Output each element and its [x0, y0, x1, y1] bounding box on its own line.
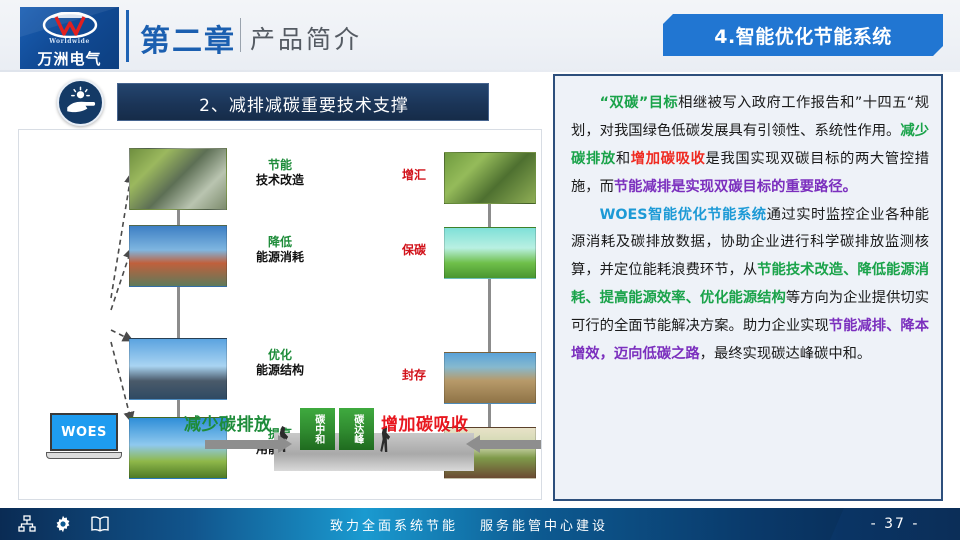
footer-icon-group [18, 508, 110, 540]
diagram-panel: 节能 技术改造 降低 能源消耗 优化 能源结构 提高 用能效率 增汇 保碳 封存… [18, 129, 542, 500]
diagram-right-connector-line [488, 279, 491, 352]
chapter-separator [240, 18, 241, 52]
diagram-label-right-1: 增汇 [389, 168, 439, 183]
description-text: “双碳”目标相继被写入政府工作报告和”十四五“规划，对我国绿色低碳发展具有引领性… [571, 90, 929, 369]
diagram-image-industrial-pipes [129, 148, 227, 210]
woes-laptop-base [46, 452, 122, 459]
diagram-image-green-earth [444, 227, 536, 279]
section-title-bar: 2、减排减碳重要技术支撑 [117, 83, 489, 121]
diagram-right-connector-line [488, 204, 491, 227]
header-divider-rule [0, 70, 960, 72]
description-paragraph-1: “双碳”目标相继被写入政府工作报告和”十四五“规划，对我国绿色低碳发展具有引领性… [571, 90, 929, 202]
section-ribbon-label: 4.智能优化节能系统 [663, 14, 943, 56]
footer-slogan-left: 致力全面系统节能 [330, 508, 458, 540]
diagram-image-geological-storage [444, 352, 536, 404]
diagram-image-power-plant [129, 225, 227, 287]
hand-with-sun-icon [59, 81, 102, 124]
diagram-label-right-2: 保碳 [389, 243, 439, 258]
diagram-left-connector-line [177, 210, 180, 225]
reduce-emission-label: 减少碳排放 [184, 410, 272, 435]
diagram-label-left-3: 优化 能源结构 [237, 348, 323, 378]
diagram-label-right-3: 封存 [389, 368, 439, 383]
puzzle-piece-carbon-peak: 碳达峰 [339, 408, 374, 450]
logo-wordmark: Worldwide [20, 38, 119, 45]
woes-device[interactable]: WOES [46, 411, 122, 463]
section-title-label: 2、减排减碳重要技术支撑 [118, 84, 490, 122]
logo-emblem-icon [42, 12, 98, 38]
section-ribbon: 4.智能优化节能系统 [663, 14, 943, 56]
section-badge [57, 79, 104, 126]
diagram-left-connector-line [177, 287, 180, 338]
reduce-emission-arrow [205, 440, 279, 449]
footer-slogan-right: 服务能管中心建设 [480, 508, 608, 540]
header-accent-bar [126, 10, 129, 62]
diagram-label-left-2: 降低 能源消耗 [237, 235, 323, 265]
increase-absorption-arrow [479, 440, 541, 449]
sitemap-icon[interactable] [18, 515, 36, 533]
chapter-title: 第二章 [140, 16, 236, 60]
company-logo: Worldwide 万洲电气 [20, 7, 119, 69]
book-icon[interactable] [90, 515, 110, 533]
increase-absorption-label: 增加碳吸收 [381, 410, 469, 435]
page-number: - 37 - [830, 508, 960, 540]
gear-icon[interactable] [54, 515, 72, 533]
diagram-image-wind-solar [129, 338, 227, 400]
logo-company-name: 万洲电气 [20, 48, 119, 69]
description-panel: “双碳”目标相继被写入政府工作报告和”十四五“规划，对我国绿色低碳发展具有引领性… [553, 74, 943, 501]
woes-screen-label: WOES [50, 413, 118, 451]
diagram-right-connector-line [488, 404, 491, 427]
diagram-label-left-1: 节能 技术改造 [237, 158, 323, 188]
diagram-image-forest [444, 152, 536, 204]
chapter-subtitle: 产品简介 [250, 20, 362, 56]
diagram-left-connector-line [177, 400, 180, 417]
puzzle-piece-carbon-neutral: 碳中和 [300, 408, 335, 450]
description-paragraph-2: WOES智能优化节能系统通过实时监控企业各种能源消耗及碳排放数据，协助企业进行科… [571, 202, 929, 369]
